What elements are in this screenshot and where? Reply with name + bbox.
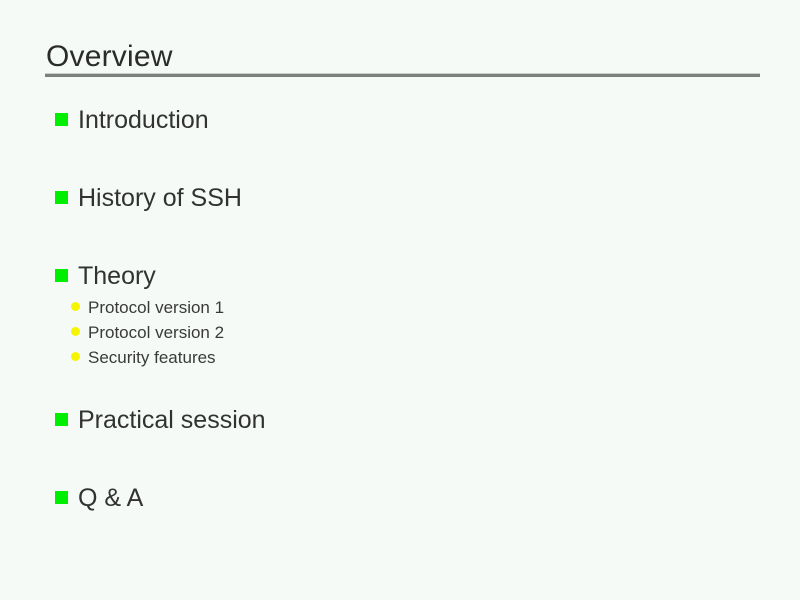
green-square-bullet-icon <box>55 191 68 204</box>
spacer <box>0 370 800 404</box>
sub-list-item: Security features <box>0 345 800 370</box>
list-item: Introduction <box>0 104 800 136</box>
list-item: Q & A <box>0 482 800 514</box>
outline-list: Introduction History of SSH Theory Proto… <box>0 104 800 514</box>
list-item-label: Q & A <box>78 482 143 514</box>
list-item-label: History of SSH <box>78 182 242 214</box>
sub-list-item-label: Protocol version 2 <box>88 320 224 345</box>
sub-list-item: Protocol version 2 <box>0 320 800 345</box>
yellow-circle-bullet-icon <box>71 302 80 311</box>
list-item: History of SSH <box>0 182 800 214</box>
sub-list-item: Protocol version 1 <box>0 295 800 320</box>
list-item-label: Introduction <box>78 104 209 136</box>
list-item: Theory <box>0 260 800 292</box>
list-item-label: Practical session <box>78 404 266 436</box>
yellow-circle-bullet-icon <box>71 352 80 361</box>
title-underline-rule <box>45 73 760 77</box>
green-square-bullet-icon <box>55 413 68 426</box>
page-title: Overview <box>46 40 173 74</box>
spacer <box>0 436 800 482</box>
presentation-slide: Overview Introduction History of SSH The… <box>0 0 800 600</box>
sub-list-item-label: Security features <box>88 345 216 370</box>
list-item-label: Theory <box>78 260 156 292</box>
yellow-circle-bullet-icon <box>71 327 80 336</box>
green-square-bullet-icon <box>55 113 68 126</box>
green-square-bullet-icon <box>55 491 68 504</box>
list-item: Practical session <box>0 404 800 436</box>
green-square-bullet-icon <box>55 269 68 282</box>
spacer <box>0 136 800 182</box>
sub-list-item-label: Protocol version 1 <box>88 295 224 320</box>
spacer <box>0 214 800 260</box>
